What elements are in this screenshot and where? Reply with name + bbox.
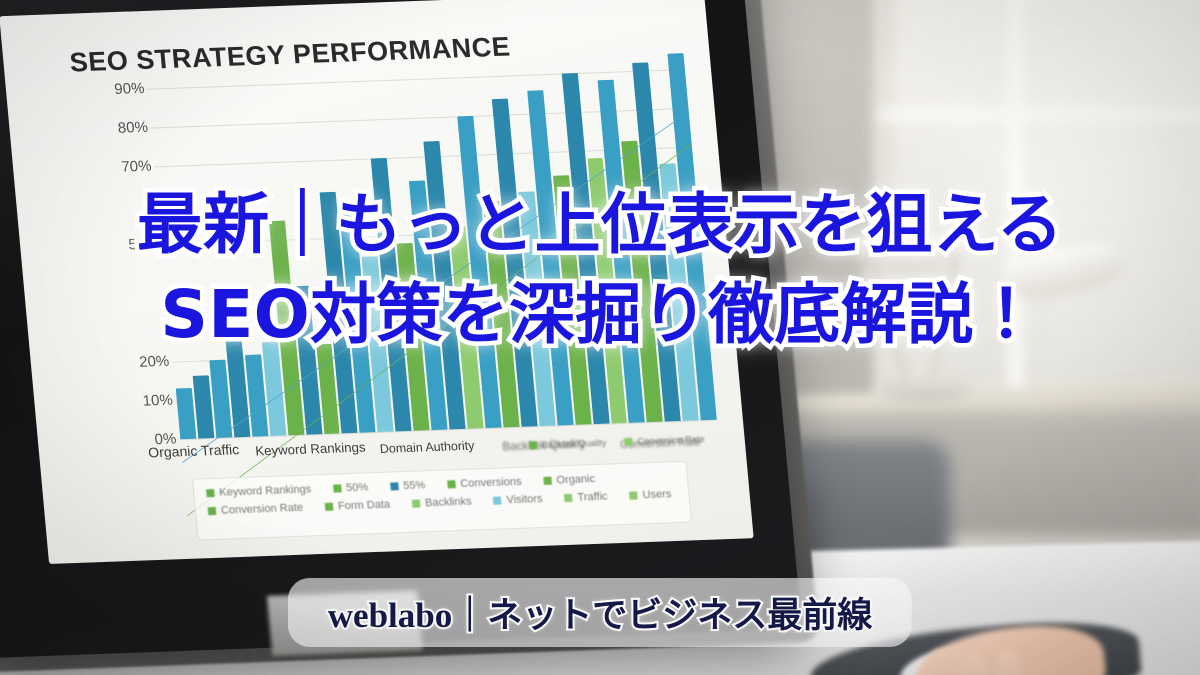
legend-swatch bbox=[624, 438, 633, 446]
y-axis-tick-label: 10% bbox=[130, 392, 174, 410]
y-axis-tick-label: 70% bbox=[109, 158, 153, 176]
legend-item: Conversion Rate bbox=[207, 502, 303, 517]
bar-series bbox=[148, 69, 716, 439]
banner-canvas: SEO STRATEGY PERFORMANCE 90%80%70%50%20%… bbox=[0, 0, 1200, 675]
legend-swatch bbox=[390, 482, 399, 490]
legend-label: 50% bbox=[346, 481, 369, 494]
category-label: Domain Authority bbox=[379, 439, 475, 456]
legend-swatch bbox=[529, 441, 538, 449]
legend-swatch bbox=[493, 496, 502, 504]
legend-label: Keyword Rankings bbox=[219, 483, 312, 498]
legend-label: Visitors bbox=[506, 493, 543, 506]
legend-label: Backlinks bbox=[425, 496, 473, 510]
chart-legend: Keyword Rankings50%55%ConversionsOrganic… bbox=[192, 461, 692, 541]
legend-item: Users bbox=[629, 488, 672, 501]
legend-label: Traffic bbox=[577, 491, 608, 504]
y-axis-tick-label: 80% bbox=[105, 119, 149, 137]
legend-label: Conversions bbox=[460, 476, 522, 490]
legend-label: Form Data bbox=[337, 499, 390, 513]
legend-swatch bbox=[564, 494, 573, 502]
legend-item: 50% bbox=[333, 481, 369, 494]
computer-monitor: SEO STRATEGY PERFORMANCE 90%80%70%50%20%… bbox=[0, 0, 802, 659]
y-axis-tick-label: 90% bbox=[102, 80, 146, 98]
legend-swatch bbox=[447, 480, 456, 488]
legend-swatch bbox=[412, 499, 421, 507]
chart-plot-area: 90%80%70%50%20%10%0% bbox=[102, 69, 716, 441]
window-glow bbox=[860, 0, 1200, 410]
legend-item: Form Data bbox=[324, 499, 390, 513]
legend-item: Visitors bbox=[493, 493, 543, 507]
legend-item: 55% bbox=[390, 479, 426, 492]
legend-item: Organic bbox=[543, 473, 596, 487]
legend-item: Conversions bbox=[447, 476, 522, 491]
legend-item: Keyword Rankings bbox=[206, 483, 312, 499]
legend-label: 55% bbox=[403, 479, 426, 492]
legend-swatch bbox=[206, 489, 215, 497]
legend-label: Organic bbox=[556, 473, 596, 486]
legend-swatch bbox=[208, 507, 217, 515]
desk-lamp-base bbox=[880, 378, 970, 402]
category-label: Organic Traffic bbox=[147, 441, 239, 460]
chart-title: SEO STRATEGY PERFORMANCE bbox=[68, 25, 689, 79]
site-badge-label: weblabo｜ネットでビジネス最前線 bbox=[328, 587, 872, 638]
category-label: Keyword Rankings bbox=[255, 440, 366, 459]
site-badge: weblabo｜ネットでビジネス最前線 bbox=[288, 578, 912, 647]
legend-label: Conversion Rate bbox=[220, 502, 303, 517]
legend-swatch bbox=[629, 491, 638, 499]
legend-swatch bbox=[333, 484, 342, 492]
y-axis-tick-label: 50% bbox=[116, 236, 160, 254]
y-axis-tick-label: 20% bbox=[126, 353, 170, 371]
legend-swatch bbox=[325, 503, 334, 511]
legend-swatch bbox=[543, 477, 552, 485]
monitor-screen: SEO STRATEGY PERFORMANCE 90%80%70%50%20%… bbox=[0, 0, 754, 564]
chart-bar bbox=[176, 388, 197, 439]
legend-item: Backlinks bbox=[412, 496, 473, 510]
seo-performance-chart: SEO STRATEGY PERFORMANCE 90%80%70%50%20%… bbox=[0, 0, 754, 564]
legend-label: Users bbox=[642, 488, 672, 501]
legend-item: Traffic bbox=[564, 491, 608, 505]
